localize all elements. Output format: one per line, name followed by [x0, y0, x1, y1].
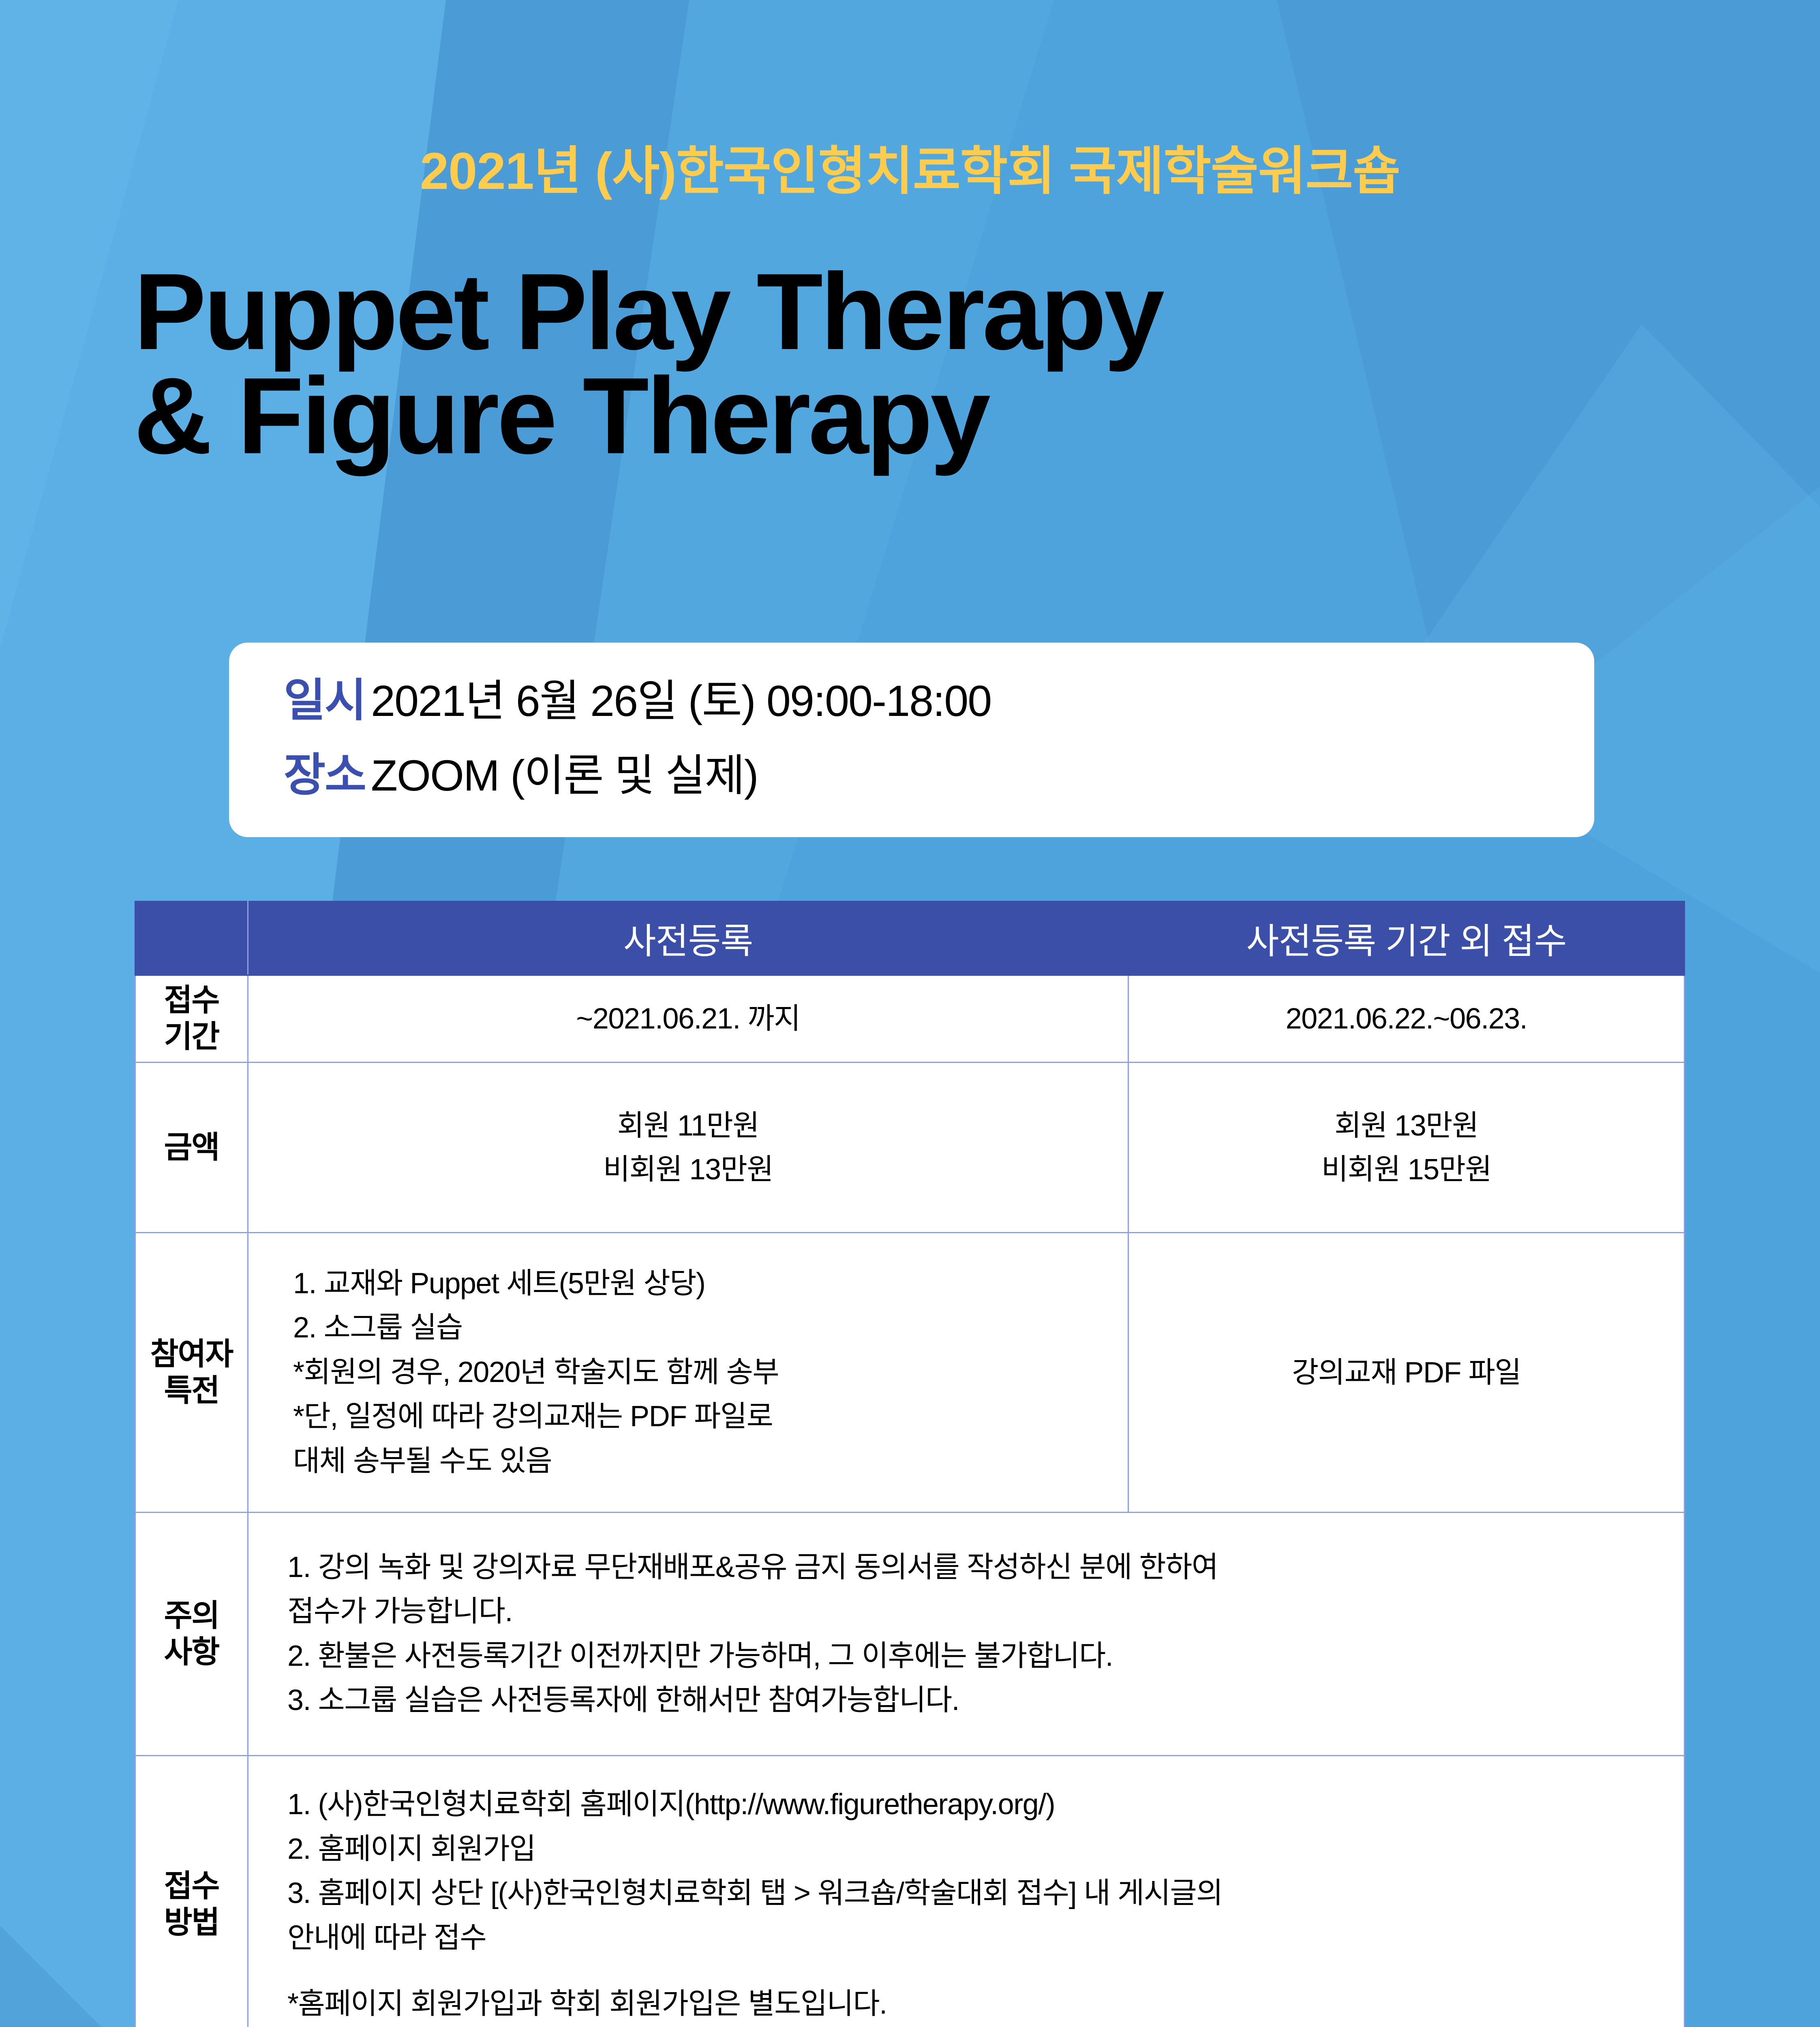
- benefit-line-3: *회원의 경우, 2020년 학술지도 함께 송부: [293, 1350, 1114, 1395]
- howto-line-4: 안내에 따라 접수: [287, 1916, 1670, 1960]
- howto-value: 1. (사)한국인형치료학회 홈페이지(http://www.figurethe…: [248, 1756, 1685, 2027]
- event-date-value: 2021년 6월 26일 (토) 09:00-18:00: [371, 666, 991, 729]
- notice-line-3: 2. 환불은 사전등록기간 이전까지만 가능하며, 그 이후에는 불가합니다.: [287, 1634, 1670, 1678]
- table-head: 사전등록 사전등록 기간 외 접수: [135, 902, 1685, 975]
- howto-footnote: *홈페이지 회원가입과 학회 회원가입은 별도입니다.: [287, 1982, 1670, 2026]
- poster-kicker: 2021년 (사)한국인형치료학회 국제학술워크숍: [0, 129, 1820, 204]
- row-label-period: 접수기간: [135, 975, 248, 1063]
- fee-late-nonmember: 비회원 15만원: [1129, 1148, 1684, 1191]
- table-header-pre-registration: 사전등록: [248, 902, 1128, 975]
- table-row-notice: 주의사항 1. 강의 녹화 및 강의자료 무단재배포&공유 금지 동의서를 작성…: [135, 1513, 1685, 1756]
- period-late-value: 2021.06.22.~06.23.: [1128, 975, 1685, 1063]
- notice-line-2: 접수가 가능합니다.: [287, 1590, 1670, 1634]
- event-date-row: 일시 2021년 6월 26일 (토) 09:00-18:00: [284, 664, 1594, 729]
- row-label-notice: 주의사항: [135, 1513, 248, 1756]
- howto-spacer: [287, 1960, 1670, 1982]
- table-header-late-registration: 사전등록 기간 외 접수: [1128, 902, 1685, 975]
- table-row-benefit: 참여자특전 1. 교재와 Puppet 세트(5만원 상당) 2. 소그룹 실습…: [135, 1233, 1685, 1513]
- row-label-benefit: 참여자특전: [135, 1233, 248, 1513]
- benefit-line-5: 대체 송부될 수도 있음: [293, 1439, 1114, 1483]
- table-row-period: 접수기간 ~2021.06.21. 까지 2021.06.22.~06.23.: [135, 975, 1685, 1063]
- notice-line-4: 3. 소그룹 실습은 사전등록자에 한해서만 참여가능합니다.: [287, 1678, 1670, 1723]
- event-info-card: 일시 2021년 6월 26일 (토) 09:00-18:00 장소 ZOOM …: [229, 643, 1594, 837]
- row-label-howto: 접수방법: [135, 1756, 248, 2027]
- fee-pre-member: 회원 11만원: [248, 1104, 1128, 1148]
- fee-pre-value: 회원 11만원 비회원 13만원: [248, 1063, 1128, 1233]
- table-header-corner: [135, 902, 248, 975]
- title-line-2: & Figure Therapy: [134, 364, 1686, 468]
- benefit-line-1: 1. 교재와 Puppet 세트(5만원 상당): [293, 1262, 1114, 1306]
- howto-line-2: 2. 홈페이지 회원가입: [287, 1827, 1670, 1871]
- registration-table: 사전등록 사전등록 기간 외 접수 접수기간 ~2021.06.21. 까지 2…: [135, 901, 1685, 2027]
- event-place-label: 장소: [284, 738, 371, 804]
- benefit-line-2: 2. 소그룹 실습: [293, 1306, 1114, 1350]
- benefit-pre-value: 1. 교재와 Puppet 세트(5만원 상당) 2. 소그룹 실습 *회원의 …: [248, 1233, 1128, 1513]
- fee-pre-nonmember: 비회원 13만원: [248, 1148, 1128, 1191]
- event-date-label: 일시: [284, 664, 371, 729]
- table-row-fee: 금액 회원 11만원 비회원 13만원 회원 13만원 비회원 15만원: [135, 1063, 1685, 1233]
- title-line-1: Puppet Play Therapy: [134, 259, 1686, 364]
- table-header-row: 사전등록 사전등록 기간 외 접수: [135, 902, 1685, 975]
- howto-line-1: 1. (사)한국인형치료학회 홈페이지(http://www.figurethe…: [287, 1783, 1670, 1827]
- table-row-howto: 접수방법 1. (사)한국인형치료학회 홈페이지(http://www.figu…: [135, 1756, 1685, 2027]
- howto-line-3: 3. 홈페이지 상단 [(사)한국인형치료학회 탭 > 워크숍/학술대회 접수]…: [287, 1871, 1670, 1916]
- benefit-late-value: 강의교재 PDF 파일: [1128, 1233, 1685, 1513]
- event-place-value: ZOOM (이론 및 실제): [371, 740, 758, 804]
- page-title: Puppet Play Therapy & Figure Therapy: [134, 259, 1686, 468]
- fee-late-value: 회원 13만원 비회원 15만원: [1128, 1063, 1685, 1233]
- notice-value: 1. 강의 녹화 및 강의자료 무단재배포&공유 금지 동의서를 작성하신 분에…: [248, 1513, 1685, 1756]
- fee-late-member: 회원 13만원: [1129, 1104, 1684, 1148]
- benefit-line-4: *단, 일정에 따라 강의교재는 PDF 파일로: [293, 1395, 1114, 1439]
- event-place-row: 장소 ZOOM (이론 및 실제): [284, 738, 1594, 804]
- period-pre-value: ~2021.06.21. 까지: [248, 975, 1128, 1063]
- row-label-fee: 금액: [135, 1063, 248, 1233]
- table-body: 접수기간 ~2021.06.21. 까지 2021.06.22.~06.23. …: [135, 975, 1685, 2027]
- notice-line-1: 1. 강의 녹화 및 강의자료 무단재배포&공유 금지 동의서를 작성하신 분에…: [287, 1545, 1670, 1590]
